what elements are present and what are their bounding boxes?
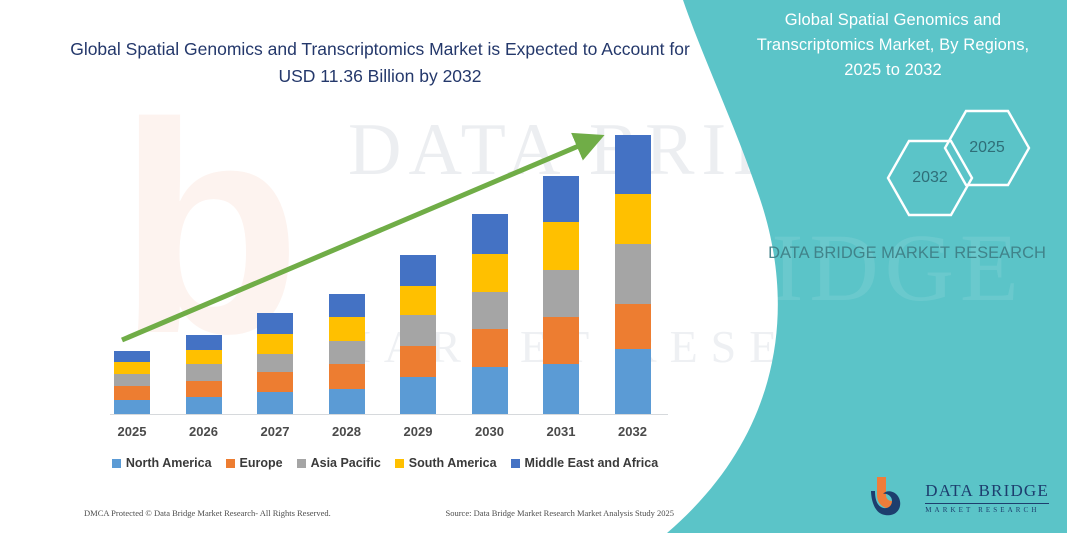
legend-swatch-icon bbox=[511, 459, 520, 468]
legend-swatch-icon bbox=[297, 459, 306, 468]
legend-label: Middle East and Africa bbox=[525, 456, 659, 470]
chart-title: Global Spatial Genomics and Transcriptom… bbox=[70, 36, 690, 90]
panel-shape: RIDGE bbox=[667, 0, 1067, 533]
legend-swatch-icon bbox=[226, 459, 235, 468]
chart-legend: North AmericaEuropeAsia PacificSouth Ame… bbox=[100, 456, 670, 470]
footer: DMCA Protected © Data Bridge Market Rese… bbox=[84, 508, 674, 518]
footer-copyright: DMCA Protected © Data Bridge Market Rese… bbox=[84, 508, 331, 518]
legend-item[interactable]: North America bbox=[112, 456, 212, 470]
svg-text:RIDGE: RIDGE bbox=[701, 214, 1024, 321]
legend-swatch-icon bbox=[395, 459, 404, 468]
panel-watermark-text: RIDGE bbox=[701, 214, 1024, 321]
legend-label: South America bbox=[409, 456, 497, 470]
footer-source: Source: Data Bridge Market Research Mark… bbox=[445, 508, 674, 518]
legend-label: Europe bbox=[240, 456, 283, 470]
infographic-canvas: b DATA BRIDGE MARKET RESEARCH Global Spa… bbox=[0, 0, 1067, 533]
logo-wordmark: DATA BRIDGE MARKET RESEARCH bbox=[925, 481, 1049, 514]
legend-swatch-icon bbox=[112, 459, 121, 468]
legend-label: Asia Pacific bbox=[311, 456, 381, 470]
logo-mark-icon bbox=[863, 473, 917, 521]
logo-tagline: MARKET RESEARCH bbox=[925, 506, 1049, 514]
legend-item[interactable]: Asia Pacific bbox=[297, 456, 381, 470]
right-panel: RIDGE bbox=[667, 0, 1067, 533]
logo-divider bbox=[925, 503, 1049, 504]
data-bridge-logo: DATA BRIDGE MARKET RESEARCH bbox=[863, 473, 1049, 521]
legend-item[interactable]: South America bbox=[395, 456, 497, 470]
legend-item[interactable]: Middle East and Africa bbox=[511, 456, 659, 470]
legend-label: North America bbox=[126, 456, 212, 470]
legend-item[interactable]: Europe bbox=[226, 456, 283, 470]
logo-name: DATA BRIDGE bbox=[925, 481, 1049, 501]
